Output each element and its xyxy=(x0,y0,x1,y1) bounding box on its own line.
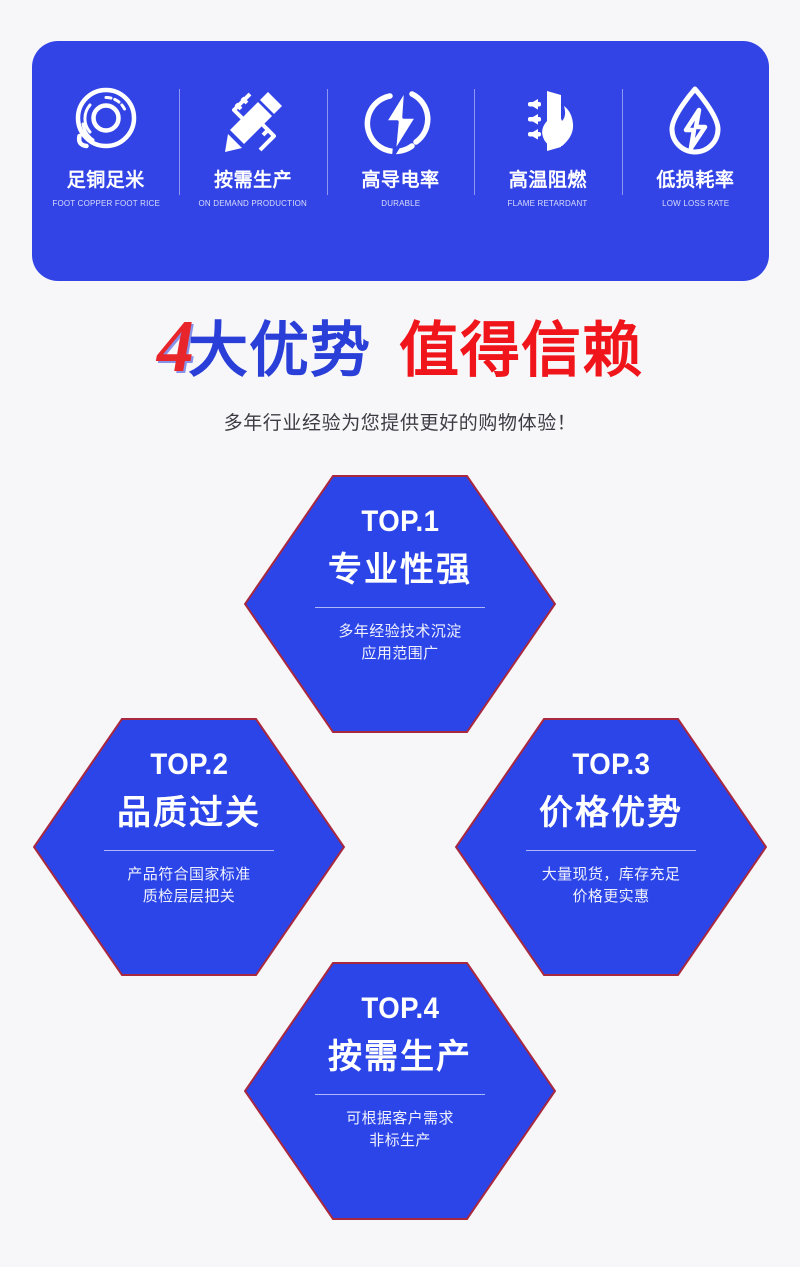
advantage-hex-4[interactable]: TOP.4 按需生产 可根据客户需求 非标生产 xyxy=(244,962,556,1220)
advantage-desc-line-1: 多年经验技术沉淀 xyxy=(338,621,461,643)
advantage-rank: TOP.1 xyxy=(361,507,439,537)
advantage-rank: TOP.4 xyxy=(361,994,439,1024)
advantage-title: 专业性强 xyxy=(328,553,472,587)
advantage-title: 价格优势 xyxy=(539,796,683,830)
advantage-description: 可根据客户需求 非标生产 xyxy=(346,1108,454,1152)
advantage-desc-line-1: 产品符合国家标准 xyxy=(127,864,250,886)
divider xyxy=(315,1094,485,1095)
advantage-desc-line-2: 价格更实惠 xyxy=(542,886,681,908)
advantage-description: 产品符合国家标准 质检层层把关 xyxy=(127,864,250,908)
advantage-title: 按需生产 xyxy=(328,1040,472,1074)
divider xyxy=(315,607,485,608)
advantage-hex-2[interactable]: TOP.2 品质过关 产品符合国家标准 质检层层把关 xyxy=(33,718,345,976)
advantage-desc-line-1: 大量现货，库存充足 xyxy=(542,864,681,886)
advantage-description: 大量现货，库存充足 价格更实惠 xyxy=(542,864,681,908)
advantage-desc-line-1: 可根据客户需求 xyxy=(346,1108,454,1130)
advantage-description: 多年经验技术沉淀 应用范围广 xyxy=(338,621,461,665)
advantage-hex-3[interactable]: TOP.3 价格优势 大量现货，库存充足 价格更实惠 xyxy=(455,718,767,976)
advantage-rank: TOP.3 xyxy=(572,750,650,780)
advantage-desc-line-2: 应用范围广 xyxy=(338,643,461,665)
advantage-hex-1[interactable]: TOP.1 专业性强 多年经验技术沉淀 应用范围广 xyxy=(244,475,556,733)
advantage-desc-line-2: 非标生产 xyxy=(346,1130,454,1152)
advantage-title: 品质过关 xyxy=(117,796,261,830)
advantages-diagram: TOP.1 专业性强 多年经验技术沉淀 应用范围广 TOP.2 品质过关 产品符… xyxy=(0,0,800,1267)
divider xyxy=(104,850,274,851)
advantage-rank: TOP.2 xyxy=(150,750,228,780)
headline-number: 4 xyxy=(157,316,192,379)
divider xyxy=(526,850,696,851)
advantage-desc-line-2: 质检层层把关 xyxy=(127,886,250,908)
